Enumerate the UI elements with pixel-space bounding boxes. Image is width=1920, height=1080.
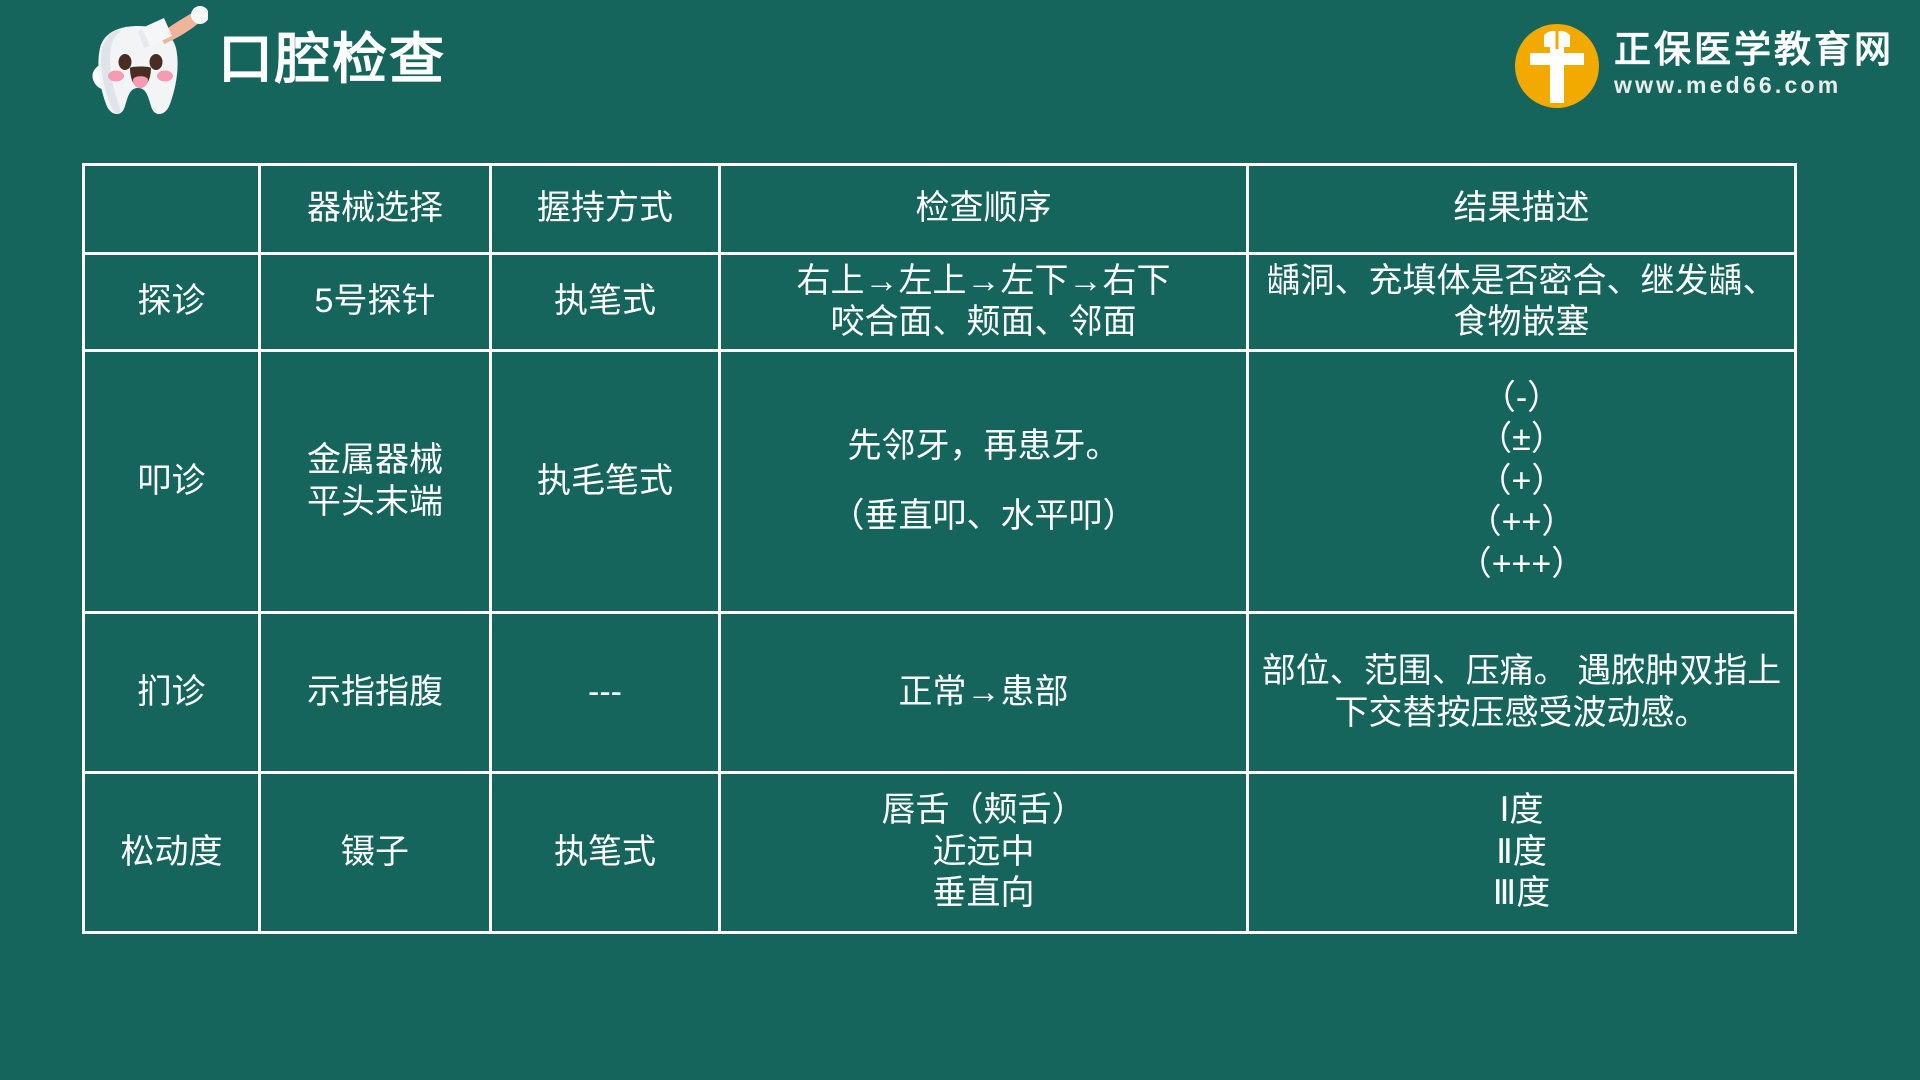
medical-cross-logo-icon xyxy=(1514,23,1600,109)
cell-palpation-instrument: 示指指腹 xyxy=(260,613,491,773)
cell-palpation-order: 正常→患部 xyxy=(720,613,1248,773)
cell-percussion-grip: 执毛笔式 xyxy=(491,351,720,613)
row-label-percussion: 叩诊 xyxy=(84,351,260,613)
percussion-order-line2: （垂直叩、水平叩） xyxy=(831,497,1137,535)
cell-probing-order: 右上→左上→左下→右下 咬合面、颊面、邻面 xyxy=(720,254,1248,351)
column-header-order: 检查顺序 xyxy=(720,165,1248,254)
cell-percussion-result: （-） （±） （+） （++） （+++） xyxy=(1248,351,1796,613)
table-row: 探诊 5号探针 执笔式 右上→左上→左下→右下 咬合面、颊面、邻面 龋洞、充填体… xyxy=(84,254,1796,351)
page-title: 口腔检查 xyxy=(218,32,446,87)
table-row: 叩诊 金属器械 平头末端 执毛笔式 先邻牙，再患牙。 （垂直叩、水平叩） （-）… xyxy=(84,351,1796,613)
cell-probing-instrument: 5号探针 xyxy=(260,254,491,351)
oral-examination-table: 器械选择 握持方式 检查顺序 结果描述 探诊 5号探针 执笔式 右上→左上→左下… xyxy=(82,163,1797,934)
cell-percussion-order: 先邻牙，再患牙。 （垂直叩、水平叩） xyxy=(720,351,1248,613)
cell-mobility-instrument: 镊子 xyxy=(260,773,491,933)
brand-name: 正保医学教育网 xyxy=(1614,31,1894,70)
cell-mobility-grip: 执笔式 xyxy=(491,773,720,933)
table-header-row: 器械选择 握持方式 检查顺序 结果描述 xyxy=(84,165,1796,254)
table-row: 扪诊 示指指腹 --- 正常→患部 部位、范围、压痛。 遇脓肿双指上下交替按压感… xyxy=(84,613,1796,773)
column-header-result: 结果描述 xyxy=(1248,165,1796,254)
brand-url: www.med66.com xyxy=(1614,71,1894,101)
percussion-order-line1: 先邻牙，再患牙。 xyxy=(848,427,1120,465)
cell-percussion-instrument: 金属器械 平头末端 xyxy=(260,351,491,613)
column-header-blank xyxy=(84,165,260,254)
spacer xyxy=(729,467,1238,496)
brand-logo: 正保医学教育网 www.med66.com xyxy=(1514,18,1894,114)
cell-palpation-grip: --- xyxy=(491,613,720,773)
cell-probing-grip: 执笔式 xyxy=(491,254,720,351)
cell-mobility-result: Ⅰ度 Ⅱ度 Ⅲ度 xyxy=(1248,773,1796,933)
row-label-palpation: 扪诊 xyxy=(84,613,260,773)
column-header-instrument: 器械选择 xyxy=(260,165,491,254)
cell-probing-result: 龋洞、充填体是否密合、继发龋、食物嵌塞 xyxy=(1248,254,1796,351)
cell-palpation-result: 部位、范围、压痛。 遇脓肿双指上下交替按压感受波动感。 xyxy=(1248,613,1796,773)
row-label-mobility: 松动度 xyxy=(84,773,260,933)
row-label-probing: 探诊 xyxy=(84,254,260,351)
column-header-grip: 握持方式 xyxy=(491,165,720,254)
page-header: 口腔检查 正保医学教育网 www.med66.com xyxy=(0,0,1920,138)
tooth-mascot-icon xyxy=(68,4,208,124)
cell-mobility-order: 唇舌（颊舌） 近远中 垂直向 xyxy=(720,773,1248,933)
table-row: 松动度 镊子 执笔式 唇舌（颊舌） 近远中 垂直向 Ⅰ度 Ⅱ度 Ⅲ度 xyxy=(84,773,1796,933)
